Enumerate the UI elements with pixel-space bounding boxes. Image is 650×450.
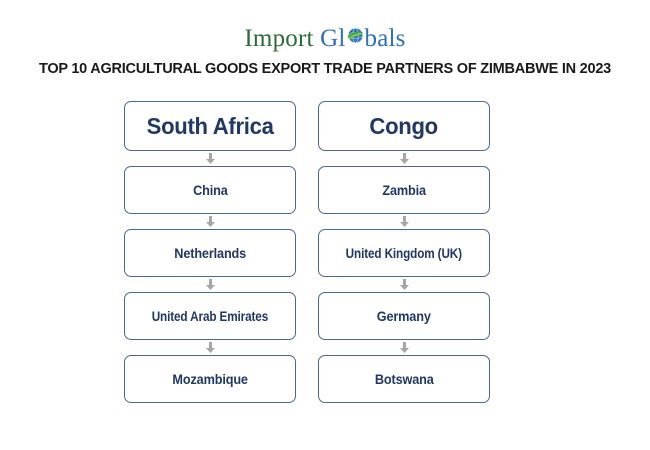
left-column: South Africa China Netherlands	[124, 101, 296, 403]
partner-node-5[interactable]: Mozambique	[124, 355, 296, 403]
brand-logo: Import Gl bals	[0, 24, 650, 54]
right-column: Congo Zambia United Kingdom (UK)	[318, 101, 490, 403]
arrow-down-icon	[206, 342, 215, 353]
partner-label: South Africa	[147, 113, 274, 140]
connector-arrow	[124, 151, 296, 166]
page-title: TOP 10 AGRICULTURAL GOODS EXPORT TRADE P…	[15, 60, 636, 77]
partner-node-4[interactable]: United Arab Emirates	[124, 292, 296, 340]
arrow-down-icon	[400, 279, 409, 290]
infographic-page: Import Gl bals TOP 10 AGRICULTURAL GOODS…	[0, 0, 650, 450]
partner-label: China	[193, 183, 228, 198]
arrow-down-icon	[400, 342, 409, 353]
partner-label: Netherlands	[174, 246, 246, 261]
partner-node-10[interactable]: Botswana	[318, 355, 490, 403]
partner-label: Mozambique	[172, 372, 247, 387]
connector-arrow	[124, 214, 296, 229]
connector-arrow	[124, 277, 296, 292]
partner-node-1[interactable]: South Africa	[124, 101, 296, 151]
connector-arrow	[124, 340, 296, 355]
logo-word-import: Import	[244, 25, 313, 52]
partner-node-8[interactable]: United Kingdom (UK)	[318, 229, 490, 277]
connector-arrow	[318, 340, 490, 355]
arrow-down-icon	[400, 153, 409, 164]
connector-arrow	[318, 277, 490, 292]
partner-node-2[interactable]: China	[124, 166, 296, 214]
arrow-down-icon	[206, 216, 215, 227]
arrow-down-icon	[400, 216, 409, 227]
logo-word-bals: bals	[365, 25, 406, 52]
partner-node-9[interactable]: Germany	[318, 292, 490, 340]
partner-node-6[interactable]: Congo	[318, 101, 490, 151]
partner-columns: South Africa China Netherlands	[124, 101, 490, 403]
partner-label: Botswana	[375, 372, 434, 387]
partner-label: Congo	[370, 113, 438, 140]
connector-arrow	[318, 214, 490, 229]
globe-icon	[346, 26, 365, 45]
partner-node-7[interactable]: Zambia	[318, 166, 490, 214]
arrow-down-icon	[206, 279, 215, 290]
partner-label: Zambia	[382, 183, 426, 198]
partner-label: United Arab Emirates	[152, 309, 268, 324]
arrow-down-icon	[206, 153, 215, 164]
partner-node-3[interactable]: Netherlands	[124, 229, 296, 277]
connector-arrow	[318, 151, 490, 166]
logo-word-gl: Gl	[320, 25, 345, 52]
partner-label: United Kingdom (UK)	[346, 246, 462, 261]
partner-label: Germany	[377, 309, 431, 324]
